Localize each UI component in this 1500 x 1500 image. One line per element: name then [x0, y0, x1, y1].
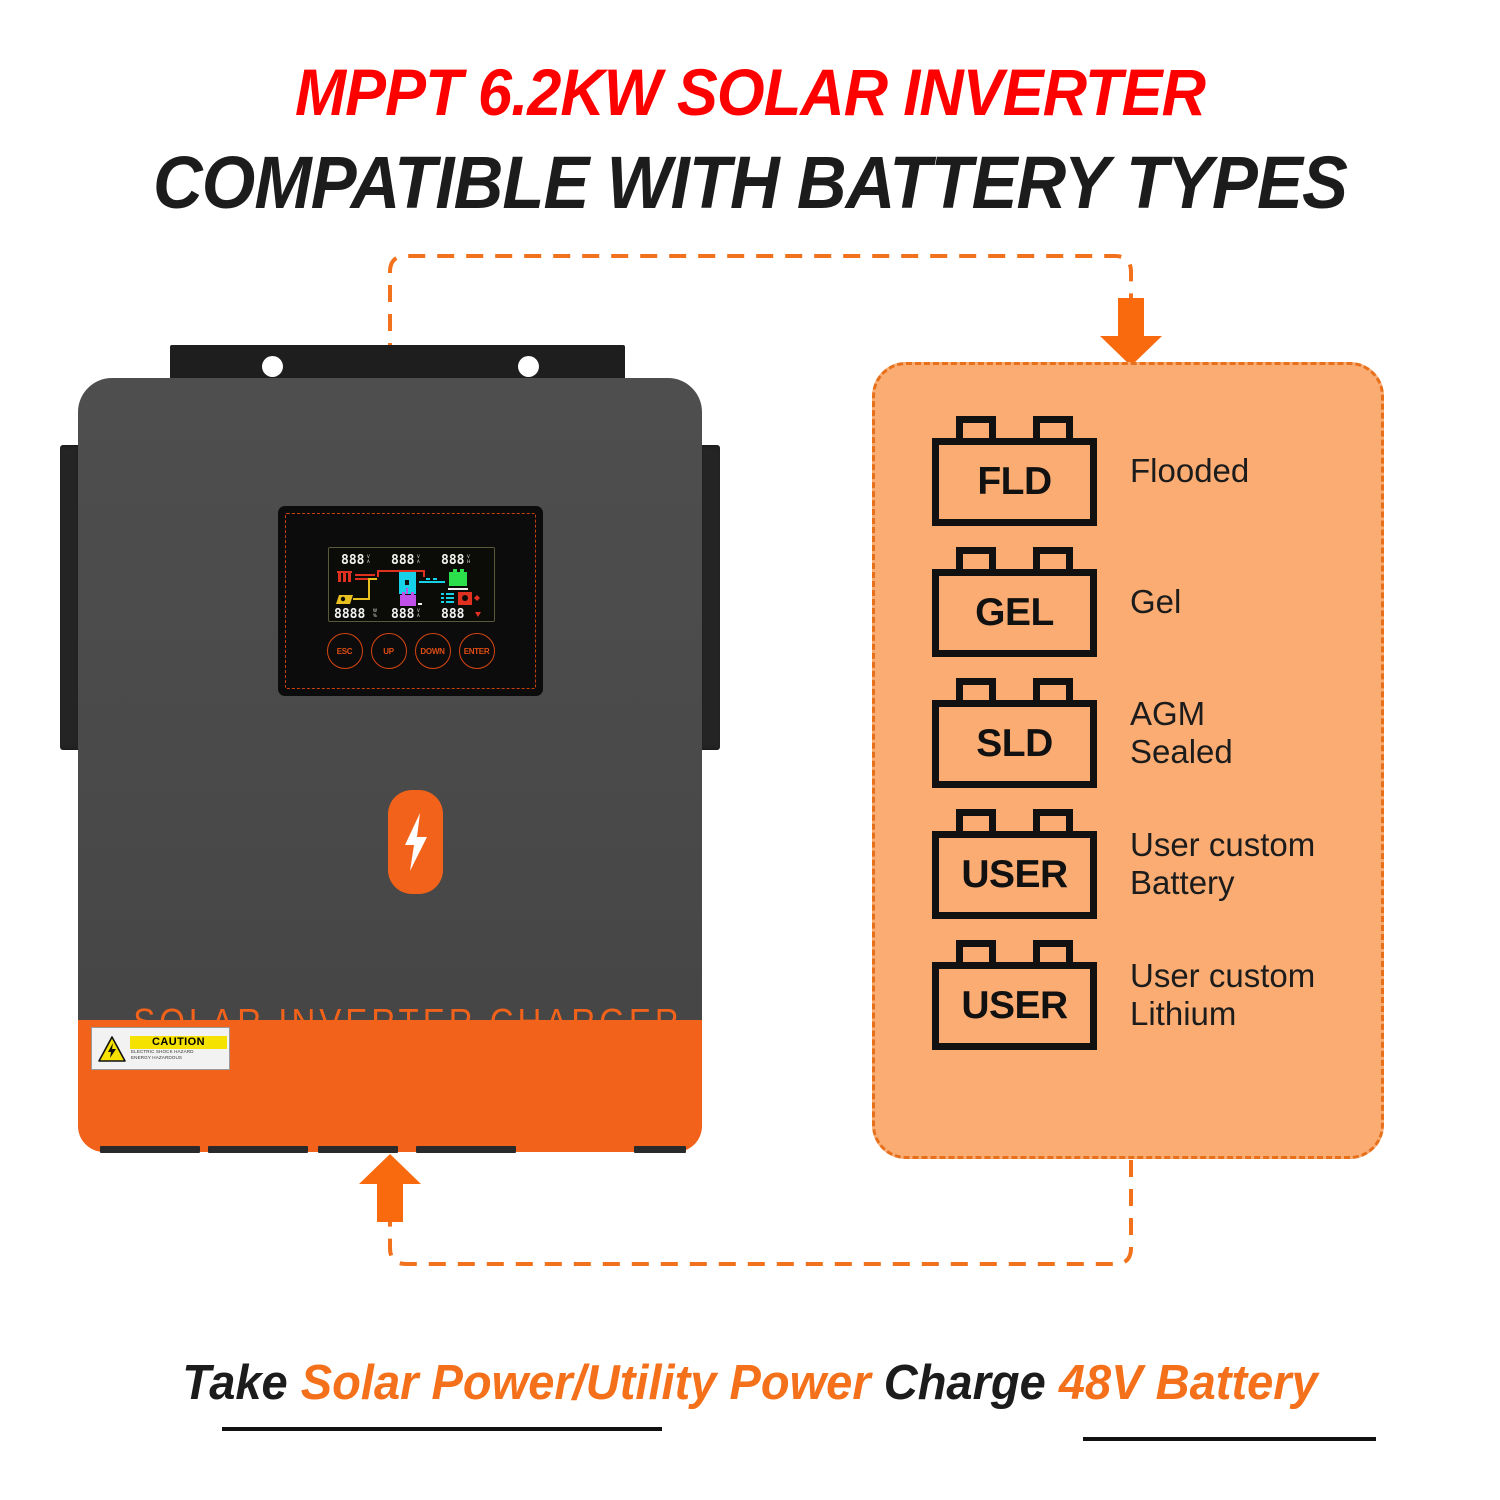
tagline-part-4: 48V Battery	[1059, 1356, 1318, 1410]
battery-row: USER User customBattery	[875, 798, 1381, 929]
arrow-up-icon	[359, 1154, 421, 1222]
battery-terminal-left	[956, 809, 996, 831]
lightning-bolt-icon	[400, 811, 432, 873]
lcd-readout-4: 8888	[334, 607, 365, 621]
battery-code: GEL	[932, 569, 1097, 657]
battery-terminal-right	[1033, 940, 1073, 962]
logo-badge	[388, 790, 443, 894]
bottom-connector-5	[634, 1146, 686, 1153]
caution-label: CAUTION ELECTRIC SHOCK HAZARD ENERGY HAZ…	[91, 1027, 230, 1070]
bottom-connector-3	[318, 1146, 398, 1153]
tagline-underline-1	[222, 1427, 662, 1431]
lcd-readout-2: 888	[391, 553, 415, 568]
battery-icon: SLD	[932, 678, 1097, 788]
battery-types-panel: FLD Flooded GEL Gel SLD AGMSealed USER U…	[872, 362, 1384, 1159]
battery-terminal-left	[956, 547, 996, 569]
down-button[interactable]: DOWN	[415, 633, 451, 669]
mount-hole-right	[518, 356, 539, 377]
caution-title: CAUTION	[130, 1036, 227, 1049]
warning-triangle-icon	[97, 1035, 127, 1063]
battery-label: User customLithium	[1130, 957, 1315, 1033]
battery-terminal-left	[956, 678, 996, 700]
button-row: ESC UP DOWN ENTER	[308, 633, 513, 667]
connector-path-bottom	[390, 1160, 1131, 1264]
bottom-connector-4	[416, 1146, 516, 1153]
battery-icon: USER	[932, 809, 1097, 919]
battery-row: GEL Gel	[875, 536, 1381, 667]
battery-terminal-right	[1033, 416, 1073, 438]
inverter-body: 888 888 888 VA VA VH	[78, 378, 702, 1068]
arrow-down-icon	[1100, 298, 1162, 366]
battery-terminal-right	[1033, 678, 1073, 700]
footer-tagline: Take Solar Power/Utility Power Charge 48…	[30, 1355, 1470, 1411]
battery-terminal-right	[1033, 547, 1073, 569]
battery-terminal-left	[956, 940, 996, 962]
lcd-readout-6: 888	[441, 607, 465, 621]
lcd-grid-ac-icon	[337, 571, 352, 582]
battery-label: Gel	[1130, 583, 1181, 621]
up-button[interactable]: UP	[371, 633, 407, 669]
tagline-part-1: Take	[182, 1356, 301, 1410]
lcd-readout-3: 888	[441, 553, 465, 568]
svg-text:%: %	[373, 613, 377, 618]
battery-label: AGMSealed	[1130, 695, 1233, 771]
lcd-graphic: 888 888 888 VA VA VH	[329, 548, 494, 621]
battery-code: USER	[932, 831, 1097, 919]
headline-block: MPPT 6.2KW SOLAR INVERTER COMPATIBLE WIT…	[0, 0, 1500, 240]
battery-terminal-right	[1033, 809, 1073, 831]
lcd-screen: 888 888 888 VA VA VH	[328, 547, 495, 622]
battery-icon: USER	[932, 940, 1097, 1050]
inverter-device: 888 888 888 VA VA VH	[60, 345, 720, 1155]
lcd-readout-5: 888	[391, 607, 415, 621]
battery-code: SLD	[932, 700, 1097, 788]
battery-code: FLD	[932, 438, 1097, 526]
battery-label: User customBattery	[1130, 826, 1315, 902]
bottom-connector-2	[208, 1146, 308, 1153]
svg-text:A: A	[417, 559, 420, 564]
page-title-sub: COMPATIBLE WITH BATTERY TYPES	[53, 140, 1448, 225]
battery-code: USER	[932, 962, 1097, 1050]
page-title-main: MPPT 6.2KW SOLAR INVERTER	[53, 54, 1448, 130]
tagline-part-2: Solar Power/Utility Power	[301, 1356, 871, 1410]
battery-terminal-left	[956, 416, 996, 438]
caution-line-2: ENERGY HAZARDOUS	[130, 1055, 227, 1061]
battery-icon: FLD	[932, 416, 1097, 526]
mount-hole-left	[262, 356, 283, 377]
enter-button[interactable]: ENTER	[459, 633, 495, 669]
battery-row: FLD Flooded	[875, 405, 1381, 536]
lcd-readout-1: 888	[341, 553, 365, 568]
control-panel: 888 888 888 VA VA VH	[278, 506, 543, 696]
svg-text:A: A	[417, 613, 420, 618]
svg-text:A: A	[367, 559, 370, 564]
esc-button[interactable]: ESC	[327, 633, 363, 669]
tagline-part-3: Charge	[871, 1356, 1059, 1410]
bottom-connector-1	[100, 1146, 200, 1153]
lcd-bar-indicator-icon	[441, 593, 454, 603]
battery-label: Flooded	[1130, 452, 1249, 490]
battery-row: USER User customLithium	[875, 929, 1381, 1060]
battery-icon: GEL	[932, 547, 1097, 657]
battery-row: SLD AGMSealed	[875, 667, 1381, 798]
inverter-bottom-panel: CAUTION ELECTRIC SHOCK HAZARD ENERGY HAZ…	[78, 1020, 702, 1152]
tagline-underline-2	[1083, 1437, 1376, 1441]
svg-text:H: H	[467, 559, 470, 564]
